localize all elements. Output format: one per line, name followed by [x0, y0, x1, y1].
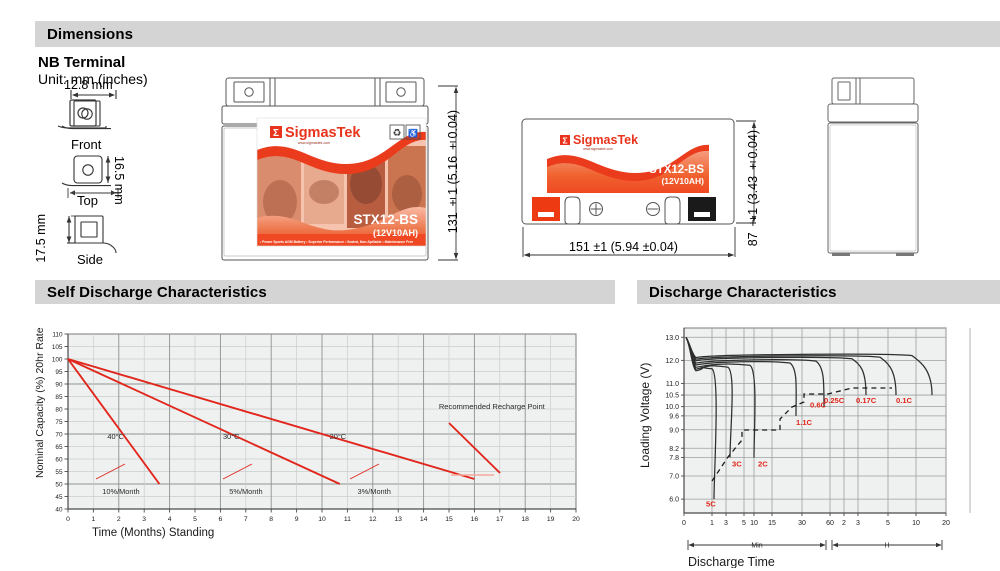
- svg-text:20°C: 20°C: [330, 432, 347, 441]
- svg-text:12.0: 12.0: [665, 358, 679, 365]
- svg-text:10.5: 10.5: [665, 393, 679, 400]
- section-title-discharge: Discharge Characteristics: [637, 284, 837, 301]
- svg-text:STX12-BS: STX12-BS: [649, 164, 704, 176]
- svg-text:H: H: [884, 543, 889, 550]
- svg-text:1: 1: [710, 520, 714, 527]
- svg-text:4: 4: [168, 516, 172, 523]
- svg-text:5: 5: [742, 520, 746, 527]
- svg-text:3%/Month: 3%/Month: [358, 487, 391, 496]
- svg-text:55: 55: [55, 469, 63, 476]
- svg-text:19: 19: [547, 516, 555, 523]
- svg-text:90: 90: [55, 382, 63, 389]
- svg-text:80: 80: [55, 407, 63, 414]
- svg-text:60: 60: [826, 520, 834, 527]
- svg-text:0: 0: [66, 516, 70, 523]
- svg-text:6: 6: [219, 516, 223, 523]
- svg-text:♿: ♿: [408, 128, 418, 138]
- svg-text:16: 16: [471, 516, 479, 523]
- section-header-self-discharge: Self Discharge Characteristics: [35, 280, 615, 304]
- section-title-self-discharge: Self Discharge Characteristics: [35, 284, 267, 301]
- svg-text:11.0: 11.0: [666, 381, 679, 388]
- terminal-top-view: [55, 152, 165, 200]
- svg-text:5%/Month: 5%/Month: [229, 487, 262, 496]
- svg-text:7.0: 7.0: [669, 474, 679, 481]
- svg-text:9: 9: [295, 516, 299, 523]
- svg-text:17: 17: [496, 516, 504, 523]
- svg-text:100: 100: [52, 357, 63, 364]
- svg-text:9.6: 9.6: [669, 413, 679, 420]
- svg-text:Recommended Recharge Point: Recommended Recharge Point: [439, 402, 546, 411]
- svg-text:5: 5: [886, 520, 890, 527]
- section-title-dimensions: Dimensions: [35, 26, 133, 43]
- svg-text:Σ: Σ: [273, 128, 279, 139]
- svg-text:40°C: 40°C: [107, 432, 124, 441]
- svg-text:♻: ♻: [393, 128, 402, 139]
- svg-text:40: 40: [55, 507, 63, 514]
- svg-text:• Power Sports AGM Battery •: • Power Sports AGM Battery • Superior Pe…: [260, 240, 413, 244]
- svg-text:(12V10AH): (12V10AH): [373, 228, 418, 238]
- nb-terminal-title: NB Terminal: [38, 54, 125, 71]
- svg-text:1: 1: [92, 516, 96, 523]
- svg-text:1.1C: 1.1C: [796, 418, 813, 427]
- svg-text:70: 70: [55, 432, 63, 439]
- svg-text:0.1C: 0.1C: [896, 396, 913, 405]
- svg-text:0.25C: 0.25C: [824, 396, 845, 405]
- svg-text:5C: 5C: [706, 499, 716, 508]
- svg-text:10: 10: [318, 516, 326, 523]
- battery-width-label: 87 ±1 (3.43 ±0.04): [746, 130, 760, 246]
- battery-height-label: 131 ±1 (5.16 ±0.04): [446, 110, 460, 233]
- svg-text:Time (Months) Standing: Time (Months) Standing: [92, 527, 214, 539]
- svg-text:13: 13: [394, 516, 402, 523]
- battery-front-view: Σ SigmasTek www.sigmastek.com ♻ ♿ STX12-…: [218, 72, 438, 267]
- svg-text:SigmasTek: SigmasTek: [573, 133, 638, 147]
- svg-text:85: 85: [55, 394, 63, 401]
- svg-text:14: 14: [420, 516, 428, 523]
- svg-text:Nominal Capacity (%) 20hr Rate: Nominal Capacity (%) 20hr Rate: [34, 327, 46, 478]
- battery-length-label: 151 ±1 (5.94 ±0.04): [569, 240, 678, 254]
- svg-text:11: 11: [344, 516, 351, 523]
- svg-text:2: 2: [842, 520, 846, 527]
- svg-text:Loading Voltage (V): Loading Voltage (V): [638, 363, 652, 468]
- svg-text:20: 20: [572, 516, 580, 523]
- svg-text:(12V10AH): (12V10AH): [661, 176, 704, 186]
- svg-text:STX12-BS: STX12-BS: [353, 212, 418, 227]
- svg-text:7: 7: [244, 516, 248, 523]
- discharge-chart: 13.012.011.010.510.09.69.08.27.87.06.0 0…: [632, 318, 1000, 568]
- svg-text:30°C: 30°C: [223, 432, 240, 441]
- section-header-discharge: Discharge Characteristics: [637, 280, 1000, 304]
- svg-text:20: 20: [942, 520, 950, 527]
- svg-text:5: 5: [193, 516, 197, 523]
- svg-text:8.2: 8.2: [669, 446, 679, 453]
- svg-text:www.sigmastek.com: www.sigmastek.com: [583, 147, 613, 151]
- svg-text:www.sigmastek.com: www.sigmastek.com: [298, 141, 331, 145]
- svg-text:3: 3: [724, 520, 728, 527]
- terminal-view-side-label: Side: [77, 252, 103, 267]
- svg-text:7.8: 7.8: [669, 455, 679, 462]
- svg-text:3: 3: [142, 516, 146, 523]
- self-discharge-chart: 404550556065707580859095100105110 012345…: [30, 318, 610, 543]
- svg-text:95: 95: [55, 369, 63, 376]
- svg-text:75: 75: [55, 419, 63, 426]
- svg-text:12: 12: [369, 516, 377, 523]
- svg-text:45: 45: [55, 494, 63, 501]
- svg-text:18: 18: [521, 516, 529, 523]
- svg-text:30: 30: [798, 520, 806, 527]
- svg-text:3: 3: [856, 520, 860, 527]
- svg-text:10: 10: [750, 520, 758, 527]
- svg-text:Discharge Time: Discharge Time: [688, 555, 775, 568]
- svg-text:10: 10: [912, 520, 920, 527]
- svg-text:0: 0: [682, 520, 686, 527]
- svg-text:SigmasTek: SigmasTek: [285, 125, 361, 141]
- svg-text:15: 15: [768, 520, 776, 527]
- terminal-width-label: 12.8 mm: [64, 78, 113, 92]
- svg-text:6.0: 6.0: [669, 497, 679, 504]
- battery-side-view: [820, 70, 930, 265]
- svg-text:65: 65: [55, 444, 63, 451]
- svg-text:Σ: Σ: [562, 136, 567, 146]
- terminal-view-top-label: Top: [77, 193, 98, 208]
- svg-text:13.0: 13.0: [665, 335, 679, 342]
- svg-text:50: 50: [55, 482, 63, 489]
- svg-text:3C: 3C: [732, 460, 742, 469]
- svg-text:9.0: 9.0: [669, 427, 679, 434]
- terminal-side-view: [55, 210, 165, 262]
- svg-text:10%/Month: 10%/Month: [102, 487, 139, 496]
- terminal-view-front-label: Front: [71, 137, 101, 152]
- svg-text:105: 105: [52, 344, 63, 351]
- svg-text:8: 8: [269, 516, 273, 523]
- terminal-height-label: 16.5 mm: [112, 156, 126, 205]
- terminal-depth-label: 17.5 mm: [34, 214, 48, 263]
- svg-text:2: 2: [117, 516, 121, 523]
- svg-text:10.0: 10.0: [665, 404, 679, 411]
- svg-text:60: 60: [55, 457, 63, 464]
- svg-text:110: 110: [52, 332, 63, 339]
- svg-text:Min: Min: [751, 543, 762, 550]
- section-header-dimensions: Dimensions: [35, 21, 1000, 47]
- svg-text:2C: 2C: [758, 460, 768, 469]
- svg-text:0.17C: 0.17C: [856, 396, 877, 405]
- svg-text:15: 15: [445, 516, 453, 523]
- terminal-front-view: [55, 88, 165, 136]
